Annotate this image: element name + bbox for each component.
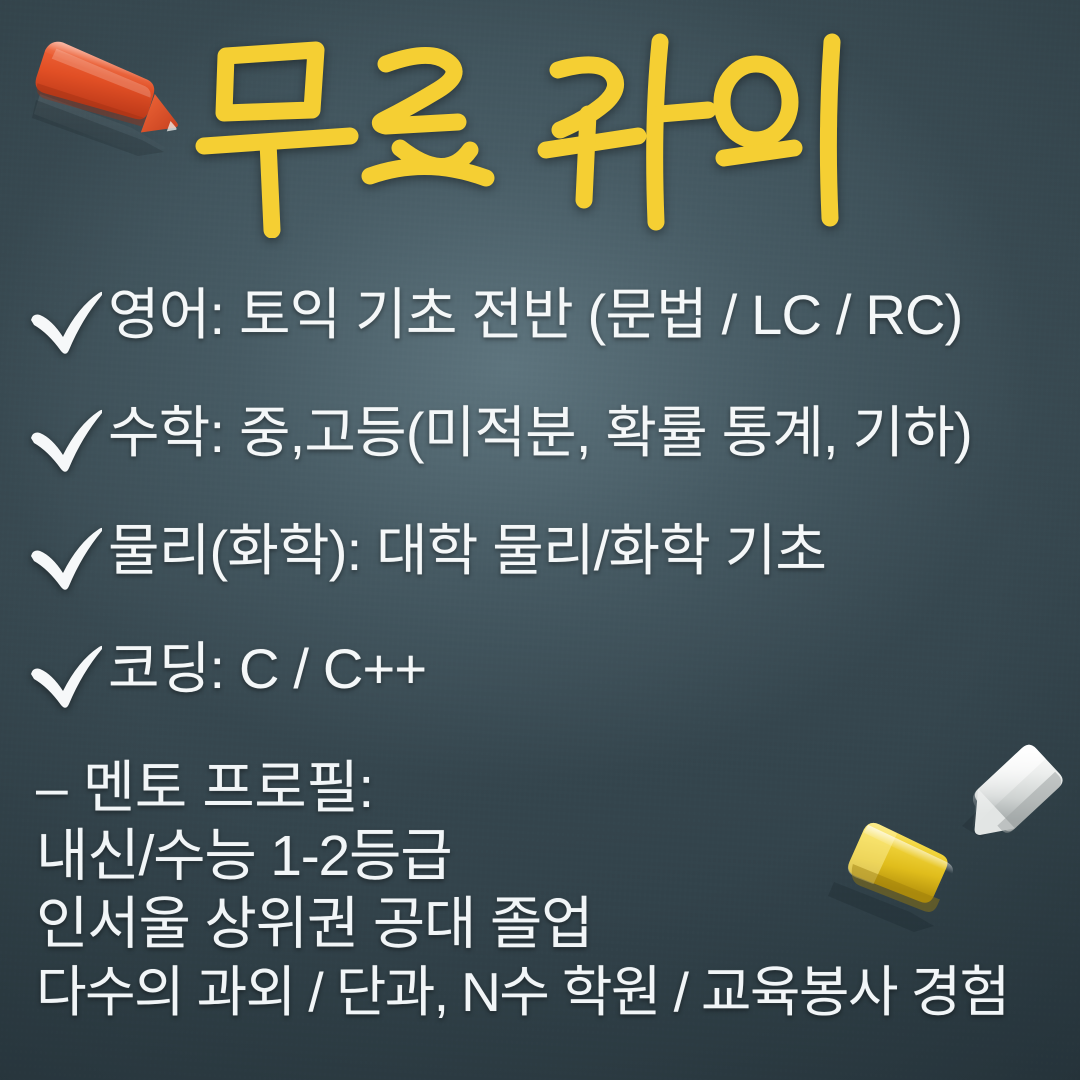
check-icon xyxy=(24,278,102,356)
profile-line: 다수의 과외 / 단과, N수 학원 / 교육봉사 경험 xyxy=(36,958,1066,1026)
list-item-label: 코딩: C / C++ xyxy=(108,630,426,708)
profile-heading: – 멘토 프로필: xyxy=(36,754,1066,822)
list-item[interactable]: 물리(화학): 대학 물리/화학 기초 xyxy=(24,512,1064,630)
list-item[interactable]: 영어: 토익 기초 전반 (문법 / LC / RC) xyxy=(24,276,1064,394)
list-item-label: 영어: 토익 기초 전반 (문법 / LC / RC) xyxy=(108,276,963,354)
mentor-profile-block: – 멘토 프로필: 내신/수능 1-2등급 인서울 상위권 공대 졸업 다수의 … xyxy=(36,754,1066,1026)
poster-title: 무료 과외 xyxy=(0,18,1080,238)
chalkboard-poster: 무료 과외 xyxy=(0,0,1080,1080)
profile-line: 내신/수능 1-2등급 xyxy=(36,822,1066,890)
subject-list: 영어: 토익 기초 전반 (문법 / LC / RC) 수학: 중,고등(미적분… xyxy=(24,276,1064,748)
list-item-label: 수학: 중,고등(미적분, 확률 통계, 기하) xyxy=(108,394,972,472)
list-item[interactable]: 코딩: C / C++ xyxy=(24,630,1064,748)
check-icon xyxy=(24,514,102,592)
list-item-label: 물리(화학): 대학 물리/화학 기초 xyxy=(108,512,826,590)
check-icon xyxy=(24,396,102,474)
list-item[interactable]: 수학: 중,고등(미적분, 확률 통계, 기하) xyxy=(24,394,1064,512)
check-icon xyxy=(24,632,102,710)
profile-line: 인서울 상위권 공대 졸업 xyxy=(36,890,1066,958)
